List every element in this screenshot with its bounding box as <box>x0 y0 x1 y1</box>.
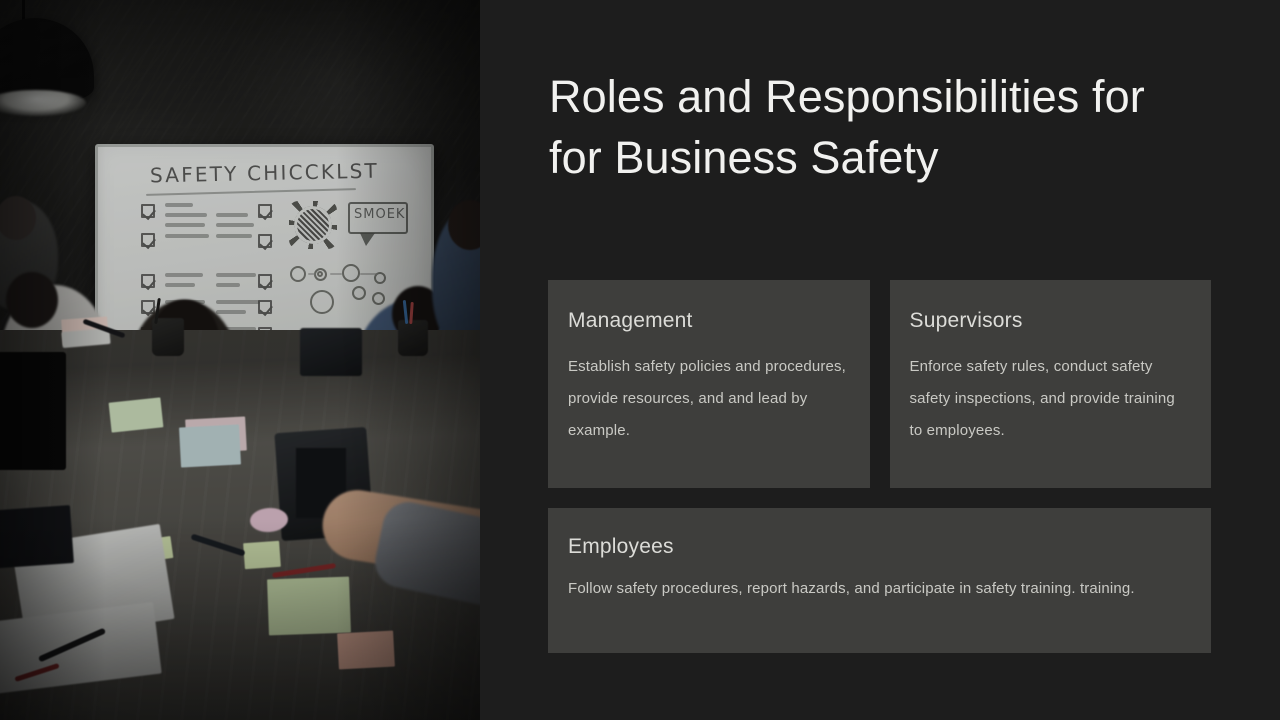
checkbox-icon <box>141 274 155 288</box>
card-body: Follow safety procedures, report hazards… <box>568 573 1189 605</box>
sticky-note <box>109 397 164 432</box>
page-title-line-1: Roles and Responsibilities for <box>549 66 1209 127</box>
whiteboard-heading: SAFETY CHICCKLST <box>150 159 379 188</box>
checkbox-icon <box>141 204 155 218</box>
checkbox-icon <box>258 300 272 314</box>
checkbox-icon <box>258 274 272 288</box>
pendant-lamp-icon <box>0 0 110 114</box>
role-cards: Management Establish safety policies and… <box>548 280 1211 653</box>
card-title: Management <box>568 308 848 334</box>
checkbox-icon <box>258 204 272 218</box>
content-panel: Roles and Responsibilities for for Busin… <box>480 0 1280 720</box>
gear-sketch-icon <box>294 206 332 244</box>
conference-table <box>0 330 480 720</box>
sleeve <box>370 497 480 608</box>
pencil <box>272 563 336 578</box>
cards-row-top: Management Establish safety policies and… <box>548 280 1211 488</box>
keyboard <box>0 505 74 569</box>
pen <box>190 533 245 556</box>
card-supervisors[interactable]: Supervisors Enforce safety rules, conduc… <box>890 280 1212 488</box>
pen-cup <box>398 320 428 356</box>
card-title: Employees <box>568 534 1189 560</box>
page-title-line-2: for Business Safety <box>549 127 1209 188</box>
page-title: Roles and Responsibilities for for Busin… <box>549 66 1209 188</box>
card-employees[interactable]: Employees Follow safety procedures, repo… <box>548 508 1211 653</box>
laptop <box>300 328 362 376</box>
speech-bubble-label: SMOEK <box>354 207 405 222</box>
meeting-photo: SAFETY CHICCKLST <box>0 0 480 720</box>
card-body: Establish safety policies and procedures… <box>568 351 848 447</box>
slide-root: SAFETY CHICCKLST <box>0 0 1280 720</box>
sticky-note <box>179 424 241 467</box>
photo-scene: SAFETY CHICCKLST <box>0 0 480 720</box>
card-management[interactable]: Management Establish safety policies and… <box>548 280 870 488</box>
sticky-note <box>337 631 395 670</box>
checkbox-icon <box>258 234 272 248</box>
checkbox-icon <box>141 233 155 247</box>
monitor <box>0 352 66 470</box>
sticky-note <box>243 541 281 569</box>
sticky-note <box>267 577 351 636</box>
card-body: Enforce safety rules, conduct safety saf… <box>910 351 1190 447</box>
card-title: Supervisors <box>910 308 1190 334</box>
